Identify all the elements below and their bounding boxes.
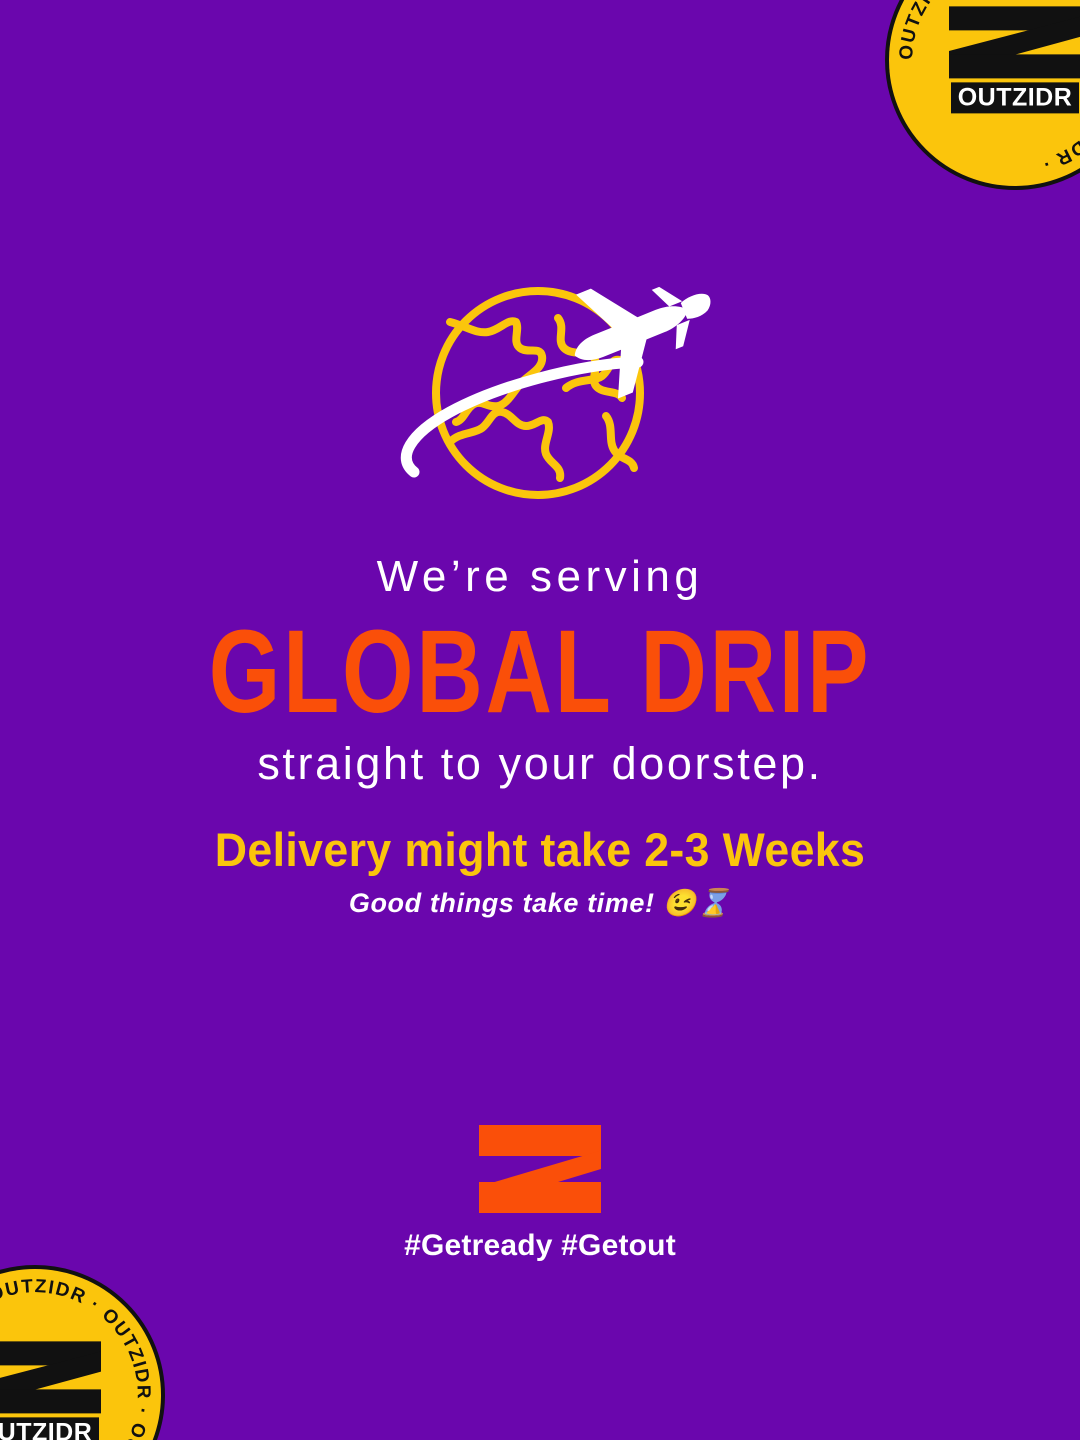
footer-hashtags: #Getready #Getout [404,1229,676,1263]
delivery-timeframe: Delivery might take 2-3 Weeks [27,822,1053,877]
footer-block: #Getready #Getout [0,1125,1080,1263]
badge-core-mark: OUTZIDR [0,1341,111,1440]
z-logo-icon [949,6,1080,78]
copy-line-doorstep: straight to your doorstep. [0,737,1080,791]
globe-airplane-icon [370,282,710,504]
outzidr-z-logo-icon [479,1125,601,1213]
z-logo-icon [0,1341,101,1413]
delivery-subtext: Good things take time! 😉⌛ [0,887,1080,919]
outzidr-badge-top-right: OUTZIDR · OUTZIDR · OUTZIDR · OUTZIDR · … [885,0,1080,190]
z-bottom-bar [949,54,1080,78]
outzidr-badge-bottom-left: OUTZIDR · OUTZIDR · OUTZIDR · OUTZIDR · … [0,1265,165,1440]
globe-with-airplane-illustration [370,282,710,504]
badge-wordmark: OUTZIDR [0,1417,99,1440]
copy-headline-global-drip: GLOBAL DRIP [43,613,1037,731]
z-bottom-bar [479,1182,601,1213]
headline-copy-block: We’re serving GLOBAL DRIP straight to yo… [0,551,1080,791]
delivery-note-block: Delivery might take 2-3 Weeks Good thing… [0,822,1080,919]
copy-line-were-serving: We’re serving [0,551,1080,603]
badge-wordmark: OUTZIDR [951,82,1080,113]
z-bottom-bar [0,1389,101,1413]
poster-canvas: OUTZIDR · OUTZIDR · OUTZIDR · OUTZIDR · … [0,0,1080,1440]
z-top-bar [479,1125,601,1156]
badge-core-mark: OUTZIDR [939,6,1080,113]
